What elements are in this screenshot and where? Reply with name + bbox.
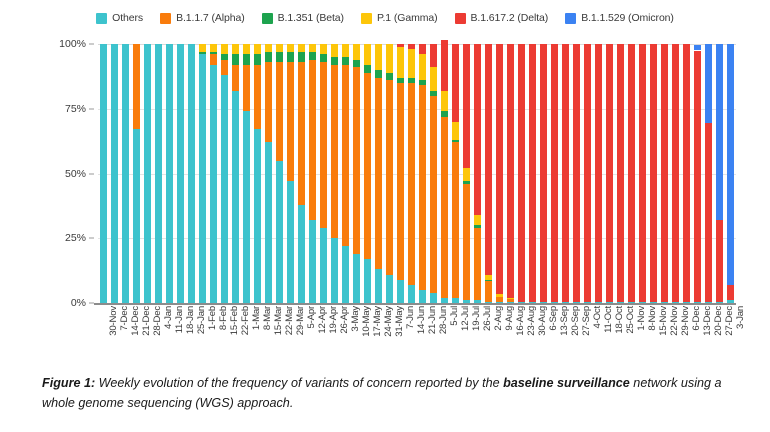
- figure-page: OthersB.1.1.7 (Alpha)B.1.351 (Beta)P.1 (…: [0, 0, 770, 432]
- bar-segment: [397, 44, 404, 47]
- x-axis-tick-label: 18-Oct: [614, 306, 625, 334]
- bar-segment: [408, 78, 415, 83]
- bar-segment: [463, 184, 470, 301]
- legend-label-others: Others: [112, 12, 143, 24]
- bar-segment: [705, 123, 712, 302]
- bar-column[interactable]: [551, 44, 558, 303]
- bar-segment: [342, 246, 349, 303]
- legend-item-gamma[interactable]: P.1 (Gamma): [361, 12, 438, 24]
- bar-segment: [474, 44, 481, 215]
- bar-column[interactable]: [573, 44, 580, 303]
- bar-segment: [408, 44, 415, 49]
- bar-segment: [199, 52, 206, 55]
- bar-segment: [364, 65, 371, 73]
- bar-segment: [232, 44, 239, 54]
- bar-column[interactable]: [309, 44, 316, 303]
- x-axis-tick-label: 17-May: [372, 306, 383, 337]
- bar-segment: [485, 44, 492, 275]
- bar-column[interactable]: [298, 44, 305, 303]
- legend-label-gamma: P.1 (Gamma): [377, 12, 438, 24]
- y-axis-tick-label: 0%: [71, 297, 86, 309]
- bar-segment: [397, 47, 404, 78]
- legend-swatch-omicron-icon: [565, 13, 576, 24]
- bar-segment: [210, 52, 217, 55]
- bar-segment: [375, 78, 382, 270]
- bar-segment: [254, 129, 261, 303]
- bar-segment: [199, 54, 206, 303]
- bar-segment: [408, 49, 415, 77]
- x-axis-tick-label: 8-Nov: [647, 306, 658, 331]
- bar-column[interactable]: [727, 44, 734, 303]
- bar-segment: [463, 44, 470, 168]
- x-axis-tick-label: 25-Jan: [196, 306, 207, 334]
- bar-segment: [287, 181, 294, 303]
- bar-segment: [133, 44, 140, 129]
- bar-segment: [243, 44, 250, 54]
- bar-column[interactable]: [265, 44, 272, 303]
- bar-segment: [287, 52, 294, 62]
- x-axis-tick-label: 8-Feb: [218, 306, 229, 330]
- bar-segment: [430, 91, 437, 96]
- bar-segment: [364, 73, 371, 259]
- legend-swatch-alpha-icon: [160, 13, 171, 24]
- x-axis-tick-label: 20-Sep: [570, 306, 581, 336]
- bar-segment: [705, 44, 712, 123]
- bar-column[interactable]: [518, 44, 525, 303]
- bar-segment: [375, 44, 382, 70]
- bar-segment: [573, 44, 580, 302]
- x-axis-tick-label: 6-Sep: [548, 306, 559, 331]
- bar-segment: [430, 293, 437, 303]
- bar-segment: [221, 44, 228, 54]
- legend-item-alpha[interactable]: B.1.1.7 (Alpha): [160, 12, 245, 24]
- bar-column[interactable]: [331, 44, 338, 303]
- bar-column[interactable]: [595, 44, 602, 303]
- x-axis-tick-label: 3-Jan: [735, 306, 746, 329]
- x-axis-tick-label: 31-May: [394, 306, 405, 337]
- y-axis-tick-label: 25%: [65, 232, 86, 244]
- bar-segment: [507, 299, 514, 302]
- bar-segment: [155, 44, 162, 303]
- bar-segment: [331, 65, 338, 239]
- bar-segment: [298, 44, 305, 52]
- bar-segment: [342, 44, 349, 57]
- bar-segment: [518, 44, 525, 302]
- bar-segment: [331, 57, 338, 65]
- legend-label-omicron: B.1.1.529 (Omicron): [581, 12, 674, 24]
- bar-column[interactable]: [716, 44, 723, 303]
- bar-segment: [474, 228, 481, 301]
- x-axis-tick-label: 16-Aug: [515, 306, 526, 336]
- bar-segment: [386, 44, 393, 72]
- bar-column[interactable]: [122, 44, 129, 303]
- bar-segment: [474, 215, 481, 225]
- bar-segment: [408, 83, 415, 285]
- bar-segment: [419, 80, 426, 85]
- bar-column[interactable]: [188, 44, 195, 303]
- bar-segment: [441, 91, 448, 112]
- bar-column[interactable]: [430, 44, 437, 303]
- bar-segment: [287, 44, 294, 52]
- bar-segment: [221, 54, 228, 59]
- x-axis-tick-label: 19-Apr: [328, 306, 339, 334]
- bar-segment: [298, 62, 305, 204]
- bar-segment: [419, 54, 426, 80]
- bar-segment: [727, 285, 734, 301]
- x-axis-tick-label: 21-Dec: [141, 306, 152, 336]
- bar-column[interactable]: [210, 44, 217, 303]
- x-axis-tick-label: 7-Dec: [119, 306, 130, 331]
- x-axis-tick-label: 13-Sep: [559, 306, 570, 336]
- bar-segment: [309, 44, 316, 52]
- x-axis-tick-label: 28-Dec: [152, 306, 163, 336]
- bar-segment: [265, 62, 272, 142]
- y-axis-tick-mark: [89, 108, 94, 109]
- x-axis-tick-label: 27-Dec: [724, 306, 735, 336]
- x-axis-tick-label: 14-Jun: [416, 306, 427, 334]
- bar-segment: [463, 168, 470, 181]
- x-axis-tick-label: 29-Mar: [295, 306, 306, 335]
- bar-segment: [276, 62, 283, 160]
- bar-column[interactable]: [452, 44, 459, 303]
- x-axis-tick-label: 11-Jan: [174, 306, 185, 333]
- bar-segment: [309, 52, 316, 60]
- bar-segment: [232, 65, 239, 91]
- bar-segment: [353, 60, 360, 68]
- bar-segment: [507, 44, 514, 298]
- bar-segment: [386, 80, 393, 274]
- bar-column[interactable]: [232, 44, 239, 303]
- bar-segment: [320, 44, 327, 54]
- bar-segment: [452, 142, 459, 297]
- bar-segment: [364, 44, 371, 65]
- bar-segment: [276, 161, 283, 303]
- x-axis-tick-label: 14-Dec: [130, 306, 141, 336]
- bar-segment: [386, 275, 393, 303]
- bar-segment: [408, 285, 415, 303]
- x-axis-tick-label: 11-Oct: [603, 306, 614, 333]
- bar-segment: [496, 294, 503, 297]
- bar-segment: [397, 83, 404, 280]
- bar-segment: [375, 70, 382, 78]
- bar-segment: [639, 44, 646, 302]
- x-axis-tick-label: 10-May: [361, 306, 372, 337]
- bar-column[interactable]: [177, 44, 184, 303]
- x-axis-tick-label: 19-Jul: [471, 306, 482, 331]
- bar-segment: [265, 142, 272, 303]
- legend-item-others[interactable]: Others: [96, 12, 143, 24]
- bar-segment: [111, 44, 118, 303]
- bar-segment: [496, 297, 503, 302]
- x-axis-tick-label: 29-Nov: [680, 306, 691, 336]
- x-axis-tick-label: 1-Nov: [636, 306, 647, 331]
- x-axis-tick-label: 15-Feb: [229, 306, 240, 335]
- x-axis-tick-label: 18-Jan: [185, 306, 196, 334]
- bar-segment: [397, 78, 404, 83]
- y-axis-tick-mark: [89, 173, 94, 174]
- bar-segment: [617, 44, 624, 302]
- bar-segment: [177, 44, 184, 303]
- bar-segment: [430, 44, 437, 67]
- x-axis-tick-label: 22-Nov: [669, 306, 680, 336]
- x-axis-tick-label: 25-Oct: [625, 306, 636, 334]
- x-axis-tick-label: 3-May: [350, 306, 361, 332]
- bar-segment: [397, 280, 404, 303]
- bar-column[interactable]: [650, 44, 657, 303]
- bar-segment: [672, 44, 679, 302]
- x-axis-tick-label: 26-Jul: [482, 306, 493, 331]
- bar-segment: [100, 44, 107, 303]
- legend-item-delta[interactable]: B.1.617.2 (Delta): [455, 12, 549, 24]
- bar-segment: [210, 65, 217, 303]
- bar-column[interactable]: [441, 44, 448, 303]
- bar-segment: [540, 44, 547, 302]
- bar-segment: [243, 54, 250, 64]
- bar-segment: [320, 54, 327, 62]
- bar-column[interactable]: [254, 44, 261, 303]
- y-axis-tick-label: 50%: [65, 168, 86, 180]
- bar-column[interactable]: [672, 44, 679, 303]
- bar-segment: [166, 44, 173, 303]
- bar-segment: [265, 52, 272, 62]
- bar-segment: [485, 280, 492, 281]
- x-axis-tick-label: 24-May: [383, 306, 394, 337]
- bar-segment: [342, 57, 349, 65]
- bar-segment: [309, 60, 316, 221]
- bar-segment: [320, 228, 327, 303]
- bar-series-container: [98, 44, 736, 303]
- bar-segment: [254, 54, 261, 64]
- x-axis-tick-label: 15-Nov: [658, 306, 669, 336]
- x-axis-tick-label: 6-Dec: [691, 306, 702, 331]
- bar-column[interactable]: [144, 44, 151, 303]
- bar-segment: [430, 96, 437, 293]
- bar-segment: [485, 275, 492, 280]
- bar-segment: [254, 44, 261, 54]
- bar-segment: [716, 220, 723, 302]
- bar-column[interactable]: [364, 44, 371, 303]
- y-axis-tick-mark: [89, 238, 94, 239]
- x-axis-tick-label: 4-Jan: [163, 306, 174, 329]
- legend-label-alpha: B.1.1.7 (Alpha): [176, 12, 245, 24]
- bar-column[interactable]: [155, 44, 162, 303]
- bar-column[interactable]: [628, 44, 635, 303]
- x-axis-tick-label: 22-Feb: [240, 306, 251, 335]
- bar-segment: [254, 65, 261, 130]
- bar-segment: [320, 62, 327, 228]
- bar-segment: [694, 45, 701, 50]
- bar-column[interactable]: [221, 44, 228, 303]
- bar-segment: [430, 67, 437, 90]
- x-axis-tick-label: 30-Nov: [108, 306, 119, 336]
- x-axis-tick-label: 22-Mar: [284, 306, 295, 335]
- bar-segment: [452, 122, 459, 140]
- bar-segment: [353, 44, 360, 60]
- bar-segment: [353, 254, 360, 303]
- legend-label-beta: B.1.351 (Beta): [278, 12, 344, 24]
- bar-column[interactable]: [562, 44, 569, 303]
- bar-column[interactable]: [276, 44, 283, 303]
- x-axis-tick-label: 8-Mar: [262, 306, 273, 330]
- figure-caption: Figure 1: Weekly evolution of the freque…: [42, 374, 732, 413]
- bar-segment: [661, 44, 668, 302]
- bar-column[interactable]: [353, 44, 360, 303]
- x-axis-tick-label: 28-Jun: [438, 306, 449, 334]
- bar-segment: [232, 91, 239, 303]
- bar-segment: [562, 44, 569, 302]
- chart-plot-area: [98, 44, 736, 303]
- legend-item-beta[interactable]: B.1.351 (Beta): [262, 12, 344, 24]
- x-axis-tick-label: 2-Aug: [493, 306, 504, 331]
- bar-column[interactable]: [474, 44, 481, 303]
- bar-segment: [210, 54, 217, 64]
- bar-column[interactable]: [111, 44, 118, 303]
- bar-segment: [276, 52, 283, 62]
- bar-segment: [485, 281, 492, 302]
- bar-segment: [551, 44, 558, 302]
- bar-segment: [452, 140, 459, 143]
- x-axis-tick-label: 30-Aug: [537, 306, 548, 336]
- bar-column[interactable]: [100, 44, 107, 303]
- bar-segment: [353, 67, 360, 253]
- x-axis-tick-label: 15-Mar: [273, 306, 284, 335]
- y-axis-tick-mark: [89, 44, 94, 45]
- bar-column[interactable]: [496, 44, 503, 303]
- x-axis-tick-label: 5-Jul: [449, 306, 460, 326]
- bar-segment: [221, 60, 228, 76]
- bar-column[interactable]: [199, 44, 206, 303]
- x-axis-tick-label: 20-Dec: [713, 306, 724, 336]
- bar-segment: [606, 44, 613, 302]
- bar-segment: [386, 73, 393, 81]
- bar-column[interactable]: [133, 44, 140, 303]
- bar-column[interactable]: [529, 44, 536, 303]
- bar-segment: [331, 44, 338, 57]
- bar-segment: [342, 65, 349, 246]
- caption-figure-number: Figure 1:: [42, 376, 95, 390]
- bar-segment: [265, 44, 272, 52]
- bar-segment: [727, 44, 734, 285]
- y-axis-tick-label: 75%: [65, 103, 86, 115]
- bar-segment: [441, 111, 448, 116]
- x-axis-tick-label: 27-Sep: [581, 306, 592, 336]
- bar-segment: [419, 44, 426, 54]
- bar-segment: [375, 269, 382, 303]
- x-axis-tick-label: 23-Aug: [526, 306, 537, 336]
- bar-column[interactable]: [320, 44, 327, 303]
- bar-column[interactable]: [661, 44, 668, 303]
- bar-segment: [419, 290, 426, 303]
- bar-segment: [188, 44, 195, 303]
- bar-segment: [331, 238, 338, 303]
- x-axis-tick-label: 21-Jun: [427, 306, 438, 334]
- bar-segment: [474, 225, 481, 228]
- bar-segment: [496, 44, 503, 294]
- bar-segment: [298, 205, 305, 303]
- bar-segment: [243, 111, 250, 303]
- x-axis-tick-label: 1-Mar: [251, 306, 262, 330]
- x-axis-tick-label: 13-Dec: [702, 306, 713, 336]
- bar-column[interactable]: [683, 44, 690, 303]
- bar-column[interactable]: [397, 44, 404, 303]
- bar-column[interactable]: [606, 44, 613, 303]
- bar-column[interactable]: [639, 44, 646, 303]
- bar-column[interactable]: [617, 44, 624, 303]
- y-axis: 0%25%50%75%100%: [48, 44, 94, 303]
- y-axis-tick-label: 100%: [59, 38, 86, 50]
- bar-segment: [243, 65, 250, 112]
- legend-label-delta: B.1.617.2 (Delta): [471, 12, 549, 24]
- caption-bold-phrase: baseline surveillance: [503, 376, 630, 390]
- bar-segment: [529, 44, 536, 302]
- bar-column[interactable]: [507, 44, 514, 303]
- bar-segment: [716, 44, 723, 220]
- x-axis-tick-label: 12-Jul: [460, 306, 471, 331]
- bar-column[interactable]: [408, 44, 415, 303]
- legend-swatch-beta-icon: [262, 13, 273, 24]
- x-axis-tick-label: 26-Apr: [339, 306, 350, 334]
- bar-segment: [221, 75, 228, 303]
- legend-swatch-delta-icon: [455, 13, 466, 24]
- bar-segment: [364, 259, 371, 303]
- bar-segment: [628, 44, 635, 302]
- x-axis-tick-label: 1-Feb: [207, 306, 218, 330]
- bar-column[interactable]: [584, 44, 591, 303]
- x-axis-tick-label: 9-Aug: [504, 306, 515, 331]
- bar-segment: [144, 44, 151, 303]
- bar-segment: [694, 51, 701, 302]
- bar-column[interactable]: [463, 44, 470, 303]
- caption-text-part-1: Weekly evolution of the frequency of var…: [95, 376, 503, 390]
- legend-swatch-gamma-icon: [361, 13, 372, 24]
- bar-segment: [287, 62, 294, 181]
- x-axis-tick-label: 5-Apr: [306, 306, 317, 328]
- bar-segment: [584, 44, 591, 302]
- bar-column[interactable]: [705, 44, 712, 303]
- chart-legend: OthersB.1.1.7 (Alpha)B.1.351 (Beta)P.1 (…: [0, 12, 770, 24]
- legend-item-omicron[interactable]: B.1.1.529 (Omicron): [565, 12, 674, 24]
- bar-segment: [441, 40, 448, 91]
- legend-swatch-others-icon: [96, 13, 107, 24]
- bar-segment: [463, 181, 470, 184]
- bar-column[interactable]: [419, 44, 426, 303]
- bar-column[interactable]: [694, 44, 701, 303]
- bar-column[interactable]: [166, 44, 173, 303]
- bar-segment: [133, 129, 140, 303]
- bar-column[interactable]: [485, 44, 492, 303]
- x-axis: 30-Nov7-Dec14-Dec21-Dec28-Dec4-Jan11-Jan…: [98, 306, 736, 362]
- bar-segment: [452, 44, 459, 122]
- bar-column[interactable]: [342, 44, 349, 303]
- bar-segment: [232, 54, 239, 64]
- bar-segment: [683, 44, 690, 302]
- x-axis-tick-label: 4-Oct: [592, 306, 603, 328]
- bar-segment: [595, 44, 602, 302]
- bar-segment: [122, 44, 129, 303]
- bar-segment: [309, 220, 316, 303]
- bar-segment: [276, 44, 283, 52]
- bar-segment: [507, 298, 514, 299]
- bar-column[interactable]: [287, 44, 294, 303]
- bar-segment: [441, 117, 448, 298]
- bar-column[interactable]: [540, 44, 547, 303]
- bar-column[interactable]: [375, 44, 382, 303]
- bar-segment: [210, 44, 217, 52]
- bar-column[interactable]: [243, 44, 250, 303]
- bar-column[interactable]: [386, 44, 393, 303]
- x-axis-tick-label: 7-Jun: [405, 306, 416, 329]
- bar-segment: [650, 44, 657, 302]
